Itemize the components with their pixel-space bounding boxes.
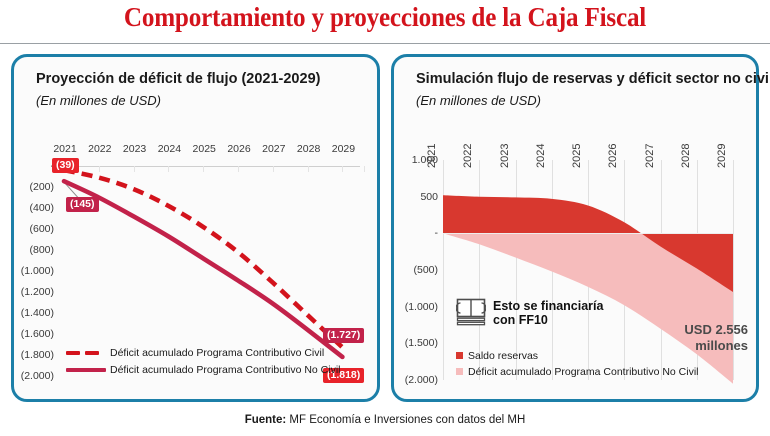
left-panel-subtitle: (En millones de USD) [36,93,161,108]
legend-item-no-civil: Déficit acumulado Programa Contributivo … [66,362,341,377]
left-chart-x-tick: 2028 [296,143,322,155]
infographic-root: Comportamiento y proyecciones de la Caja… [0,0,770,436]
right-chart-y-tick: 500 [390,191,438,203]
page-title: Comportamiento y proyecciones de la Caja… [27,2,743,33]
left-chart-x-tick: 2026 [226,143,252,155]
left-chart-label-2021-no-civil: (145) [66,197,99,212]
left-chart-x-tick: 2025 [191,143,217,155]
left-chart-y-tick: (1.400) [4,307,54,319]
right-chart-y-tick: (1.000) [390,301,438,313]
footer-source: Fuente: MF Economía e Inversiones con da… [0,414,770,426]
left-chart-x-tick: 2022 [87,143,113,155]
legend-label-saldo-reservas: Saldo reservas [468,350,538,362]
finance-note-text: Esto se financiaría con FF10 [493,299,603,327]
finance-note-line1: Esto se financiaría [493,299,603,313]
usd-callout: USD 2.556 millones [640,322,748,354]
left-chart-label-2021-civil: (39) [52,158,79,173]
right-panel-title: Simulación flujo de reservas y déficit s… [416,71,770,87]
right-chart-y-tick: - [390,227,438,239]
left-chart-legend: Déficit acumulado Programa Contributivo … [66,345,341,379]
usd-callout-line2: millones [695,338,748,353]
left-chart-y-tick: (800) [4,244,54,256]
dashed-line-icon [66,351,106,355]
left-panel-title: Proyección de déficit de flujo (2021-202… [36,71,320,87]
left-chart-y-tick: (1.200) [4,286,54,298]
usd-callout-line1: USD 2.556 [684,322,748,337]
finance-note: Esto se financiaría con FF10 [456,298,603,328]
header: Comportamiento y proyecciones de la Caja… [0,0,770,44]
left-chart-x-tick: 2024 [156,143,182,155]
right-chart-y-tick: (1.500) [390,337,438,349]
right-chart-x-tick: 2021 [426,144,438,168]
legend-label-civil: Déficit acumulado Programa Contributivo … [110,347,324,359]
left-chart-x-tick: 2029 [330,143,356,155]
left-chart-gridline [364,166,365,172]
legend-label-no-civil: Déficit acumulado Programa Contributivo … [110,364,341,376]
left-chart-y-tick: (1.600) [4,328,54,340]
square-marker-icon [456,368,463,375]
header-divider [0,43,770,44]
right-panel-subtitle: (En millones de USD) [416,93,541,108]
left-chart-y-tick: - [4,160,54,172]
finance-note-line2: con FF10 [493,313,548,327]
left-chart-y-tick: (600) [4,223,54,235]
left-chart-label-2029-civil: (1.727) [323,328,364,343]
footer-source-label: Fuente: [245,414,287,426]
legend-item-deficit-no-civil: Déficit acumulado Programa Contributivo … [456,364,699,379]
left-chart-x-tick: 2027 [261,143,287,155]
left-chart-y-tick: (200) [4,181,54,193]
left-chart-y-tick: (1.000) [4,265,54,277]
left-chart-y-tick: (1.800) [4,349,54,361]
right-chart-zero-line [443,233,733,234]
left-chart-x-tick: 2021 [52,143,78,155]
banknotes-icon [456,298,486,328]
right-chart-y-tick: (2.000) [390,374,438,386]
left-chart-line-no-civil [64,181,342,357]
right-chart-y-tick: (500) [390,264,438,276]
legend-item-civil: Déficit acumulado Programa Contributivo … [66,345,341,360]
solid-line-icon [66,368,106,372]
square-marker-icon [456,352,463,359]
footer-source-text: MF Economía e Inversiones con datos del … [286,414,525,426]
left-chart-y-tick: (2.000) [4,370,54,382]
left-chart-x-tick: 2023 [122,143,148,155]
legend-label-deficit-no-civil: Déficit acumulado Programa Contributivo … [468,366,699,378]
left-chart-y-tick: (400) [4,202,54,214]
